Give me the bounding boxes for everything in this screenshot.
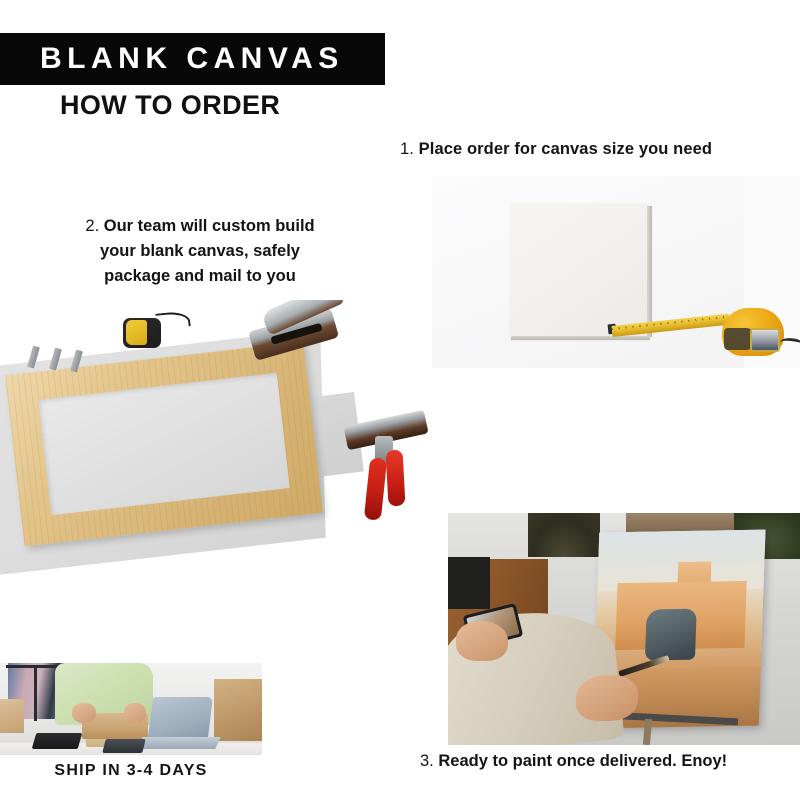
step-1-caption: 1. Place order for canvas size you need <box>400 140 790 159</box>
photo-packing-box-at-desk <box>0 663 262 755</box>
shipping-time-label: SHIP IN 3-4 DAYS <box>0 762 262 780</box>
canvas-stretching-pliers <box>345 418 435 548</box>
blank-canvas-object <box>510 204 648 337</box>
tape-measure-yellow-face <box>126 320 147 345</box>
photo-artist-painting-on-easel <box>448 513 800 745</box>
wall-decoration-left <box>528 513 600 557</box>
tape-measure-window <box>750 328 780 352</box>
step-2-text-line-2: your blank canvas, safely <box>100 242 300 260</box>
dark-drape <box>448 557 490 609</box>
artist-hand-holding-brush <box>576 675 638 721</box>
staple-icon <box>27 345 40 368</box>
staple-gun <box>242 300 363 380</box>
step-3-number: 3. <box>420 752 434 770</box>
stacked-shipping-boxes <box>214 679 262 741</box>
canvas-right-edge <box>647 206 652 337</box>
tape-measure-cord <box>155 310 190 329</box>
pliers-red-handle <box>386 450 406 507</box>
step-3-caption: 3. Ready to paint once delivered. Enoy! <box>420 752 790 771</box>
small-shipping-box <box>0 699 24 733</box>
step-2-text-line-1: Our team will custom build <box>104 217 315 235</box>
staple-pile <box>30 346 100 372</box>
step-1-text: Place order for canvas size you need <box>419 140 712 158</box>
title-banner: BLANK CANVAS <box>0 33 385 85</box>
laptop-keyboard <box>137 737 220 749</box>
page-title: BLANK CANVAS <box>0 42 344 76</box>
clothing-rack-stand <box>34 667 37 721</box>
page-subtitle: HOW TO ORDER <box>60 90 280 121</box>
calculator <box>32 733 83 749</box>
person-right-hand <box>124 703 146 723</box>
step-2-text-line-3: package and mail to you <box>104 267 296 285</box>
photo-blank-canvas-with-tape-measure <box>432 176 800 368</box>
staple-icon <box>49 347 62 370</box>
canvas-bottom-edge <box>511 336 650 340</box>
step-2-caption: 2. Our team will custom build your blank… <box>45 214 355 289</box>
step-3-text: Ready to paint once delivered. Enoy! <box>438 752 727 770</box>
pliers-red-handle <box>364 457 387 520</box>
painting-dark-figure-shape <box>645 609 697 661</box>
step-2-number: 2. <box>85 217 99 235</box>
artist-hand-holding-phone <box>456 621 508 661</box>
person-left-hand <box>72 703 96 723</box>
smartphone-on-desk <box>102 739 145 753</box>
frame-inner-canvas <box>38 373 290 515</box>
tape-measure-cord <box>779 337 800 350</box>
photo-wooden-stretcher-frame-with-tools <box>0 300 440 600</box>
staple-icon <box>70 349 83 372</box>
infographic-page: BLANK CANVAS HOW TO ORDER 1. Place order… <box>0 0 800 800</box>
step-1-number: 1. <box>400 140 414 158</box>
